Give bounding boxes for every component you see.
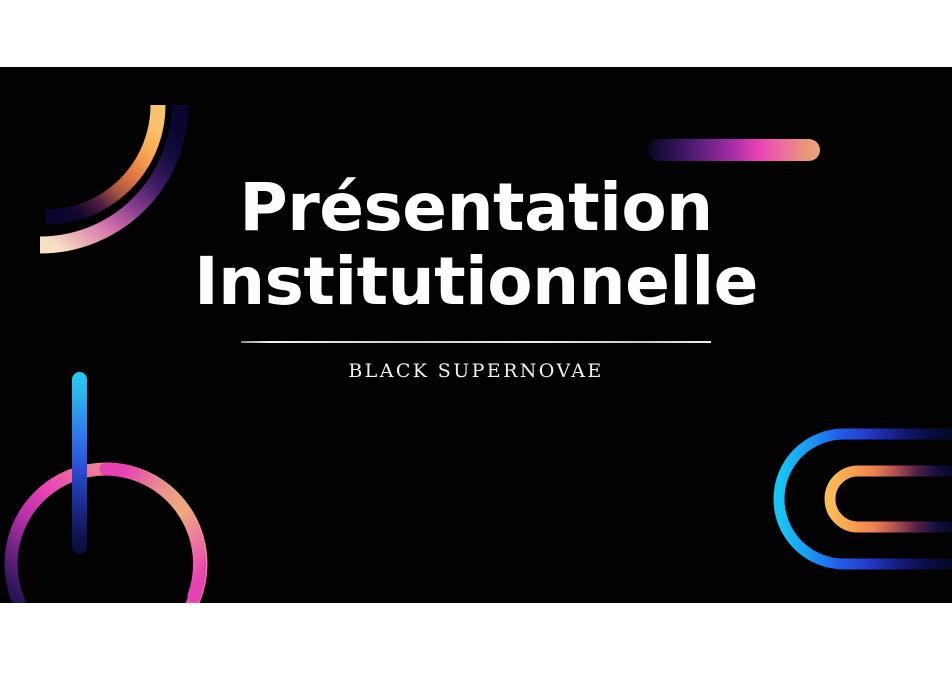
slide-canvas: Présentation Institutionnelle BLACK SUPE…	[0, 0, 952, 673]
u-shape-decoration-bottom-right	[772, 424, 952, 586]
gradient-bar-decoration-top-right	[648, 139, 820, 161]
ring-decoration-bottom-left	[0, 456, 214, 603]
title-divider	[241, 341, 711, 343]
vertical-bar-decoration-bottom-left	[72, 372, 87, 554]
title-block: Présentation Institutionnelle BLACK SUPE…	[0, 171, 952, 382]
presentation-slide: Présentation Institutionnelle BLACK SUPE…	[0, 67, 952, 603]
page-title: Présentation Institutionnelle	[0, 171, 952, 319]
slide-subtitle: BLACK SUPERNOVAE	[0, 360, 952, 382]
